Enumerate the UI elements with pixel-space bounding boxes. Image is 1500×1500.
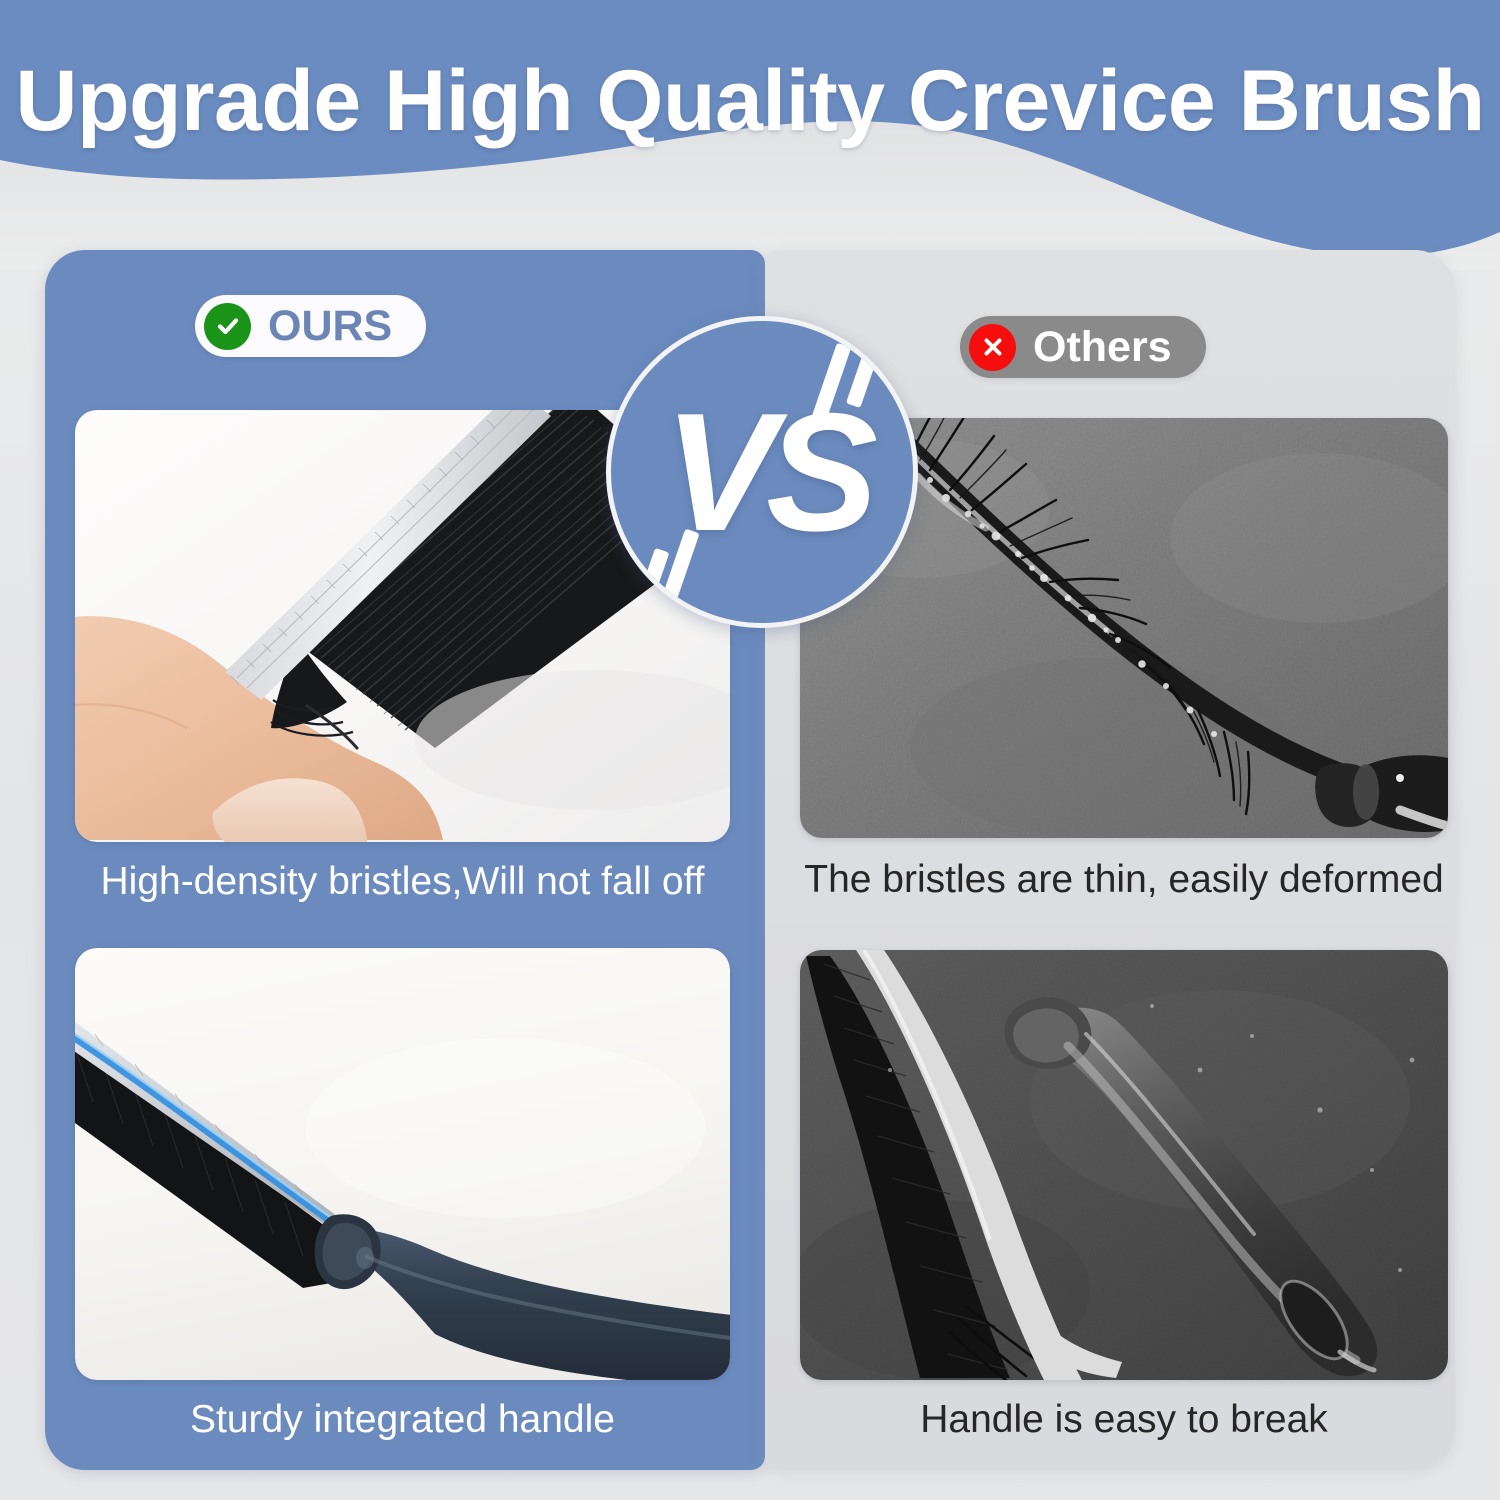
photo-ours-handle: [75, 948, 730, 1380]
infographic-page: Upgrade High Quality Crevice Brush OURS …: [0, 0, 1500, 1500]
header-banner: Upgrade High Quality Crevice Brush: [0, 0, 1500, 270]
caption-ours-bristles: High-density bristles,Will not fall off: [75, 862, 730, 901]
badge-ours: OURS: [195, 295, 426, 357]
caption-others-bristles: The bristles are thin, easily deformed: [800, 860, 1448, 899]
cross-circle-icon: [969, 324, 1016, 371]
badge-ours-label: OURS: [268, 305, 392, 348]
badge-others: Others: [960, 316, 1206, 378]
page-title: Upgrade High Quality Crevice Brush: [0, 52, 1500, 151]
check-circle-icon: [204, 303, 251, 350]
photo-others-handle: [800, 950, 1448, 1380]
versus-emblem: VS: [606, 316, 918, 628]
caption-ours-handle: Sturdy integrated handle: [75, 1400, 730, 1439]
badge-others-label: Others: [1033, 326, 1172, 369]
caption-others-handle: Handle is easy to break: [800, 1400, 1448, 1439]
